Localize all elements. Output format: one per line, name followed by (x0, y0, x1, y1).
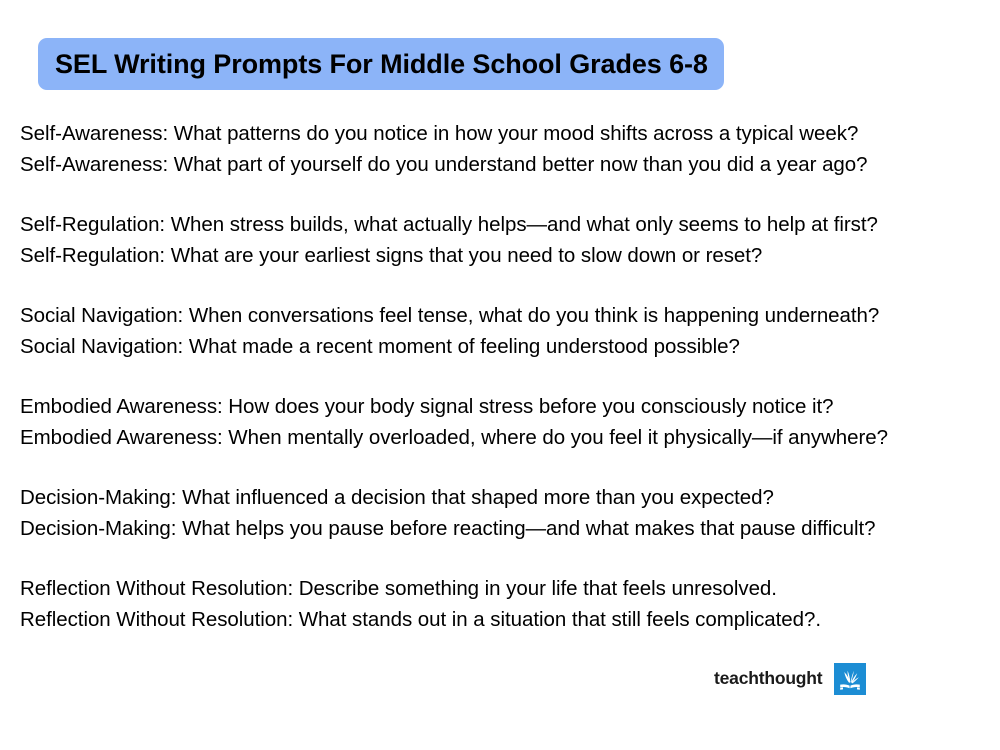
prompt-list: Self-Awareness: What patterns do you not… (20, 118, 985, 635)
prompt-group-self-awareness: Self-Awareness: What patterns do you not… (20, 118, 985, 180)
prompt-line: Decision-Making: What influenced a decis… (20, 482, 985, 513)
prompt-line: Social Navigation: When conversations fe… (20, 300, 985, 331)
prompt-group-decision-making: Decision-Making: What influenced a decis… (20, 482, 985, 544)
prompt-line: Decision-Making: What helps you pause be… (20, 513, 985, 544)
document-page: SEL Writing Prompts For Middle School Gr… (0, 0, 1000, 750)
prompt-line: Embodied Awareness: When mentally overlo… (20, 422, 985, 453)
prompt-line: Self-Awareness: What part of yourself do… (20, 149, 985, 180)
page-title: SEL Writing Prompts For Middle School Gr… (55, 51, 708, 78)
prompt-line: Self-Awareness: What patterns do you not… (20, 118, 985, 149)
prompt-line: Reflection Without Resolution: Describe … (20, 573, 985, 604)
prompt-group-reflection-without-resolution: Reflection Without Resolution: Describe … (20, 573, 985, 635)
prompt-line: Self-Regulation: What are your earliest … (20, 240, 985, 271)
prompt-group-social-navigation: Social Navigation: When conversations fe… (20, 300, 985, 362)
prompt-line: Self-Regulation: When stress builds, wha… (20, 209, 985, 240)
brand-wordmark: teachthought (714, 670, 822, 688)
brand-footer: teachthought (714, 663, 866, 695)
prompt-line: Social Navigation: What made a recent mo… (20, 331, 985, 362)
prompt-group-embodied-awareness: Embodied Awareness: How does your body s… (20, 391, 985, 453)
open-book-with-plumes-icon (834, 663, 866, 695)
page-title-banner: SEL Writing Prompts For Middle School Gr… (38, 38, 724, 90)
prompt-group-self-regulation: Self-Regulation: When stress builds, wha… (20, 209, 985, 271)
prompt-line: Reflection Without Resolution: What stan… (20, 604, 985, 635)
prompt-line: Embodied Awareness: How does your body s… (20, 391, 985, 422)
